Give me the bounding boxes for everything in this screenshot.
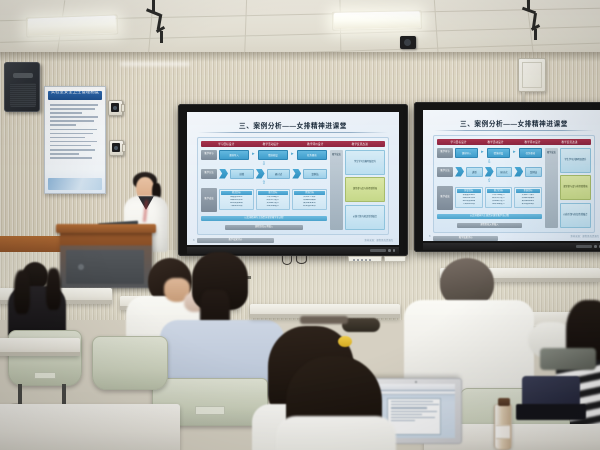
arrow-icon: ▸ (512, 149, 517, 156)
outcome-box-1: 学生学习兴趣明显提升 (345, 150, 385, 175)
menu-dot-icon[interactable] (393, 249, 396, 252)
down-arrow-icon: ⇩ (201, 162, 327, 166)
laptop-app-toolbar (377, 384, 455, 391)
wall-jack-plate-2 (384, 256, 406, 262)
row1-node-1: 课前导入 (455, 148, 478, 158)
laptop-user-torso (276, 416, 396, 450)
slide-diagram: 学习目标设计 教学活动设计 教学评价设计 教学反思改进 教学环节 课前导入 ▸ … (433, 135, 595, 233)
diagram-right-column: 教学成效 学生学习兴趣明显提升 课堂参与度与获得感增强 价值引领与知识传授融合 (330, 150, 385, 231)
chevron-icon (455, 167, 464, 177)
row1-node-2: 情境创设 (258, 150, 288, 160)
diagram-body: 教学环节 课前导入 ▸ 情境创设 ▸ 任务驱动 ⇩ 教学方法 (201, 150, 385, 231)
row1-label: 教学环节 (437, 148, 453, 158)
row2-node-2: 研讨式 (267, 169, 291, 179)
slide-page-number: 8 (429, 235, 430, 238)
chevron-icon (292, 169, 301, 179)
diagram-header-bar: 学习目标设计 教学活动设计 教学评价设计 教学反思改进 (201, 141, 385, 147)
col2-header: 能力目标 (258, 191, 289, 195)
row2-node-2: 研讨式 (496, 167, 513, 177)
left-display[interactable]: 三、案例分析——女排精神进课堂 学习目标设计 教学活动设计 教学评价设计 教学反… (178, 104, 408, 256)
col1-item-4: 了解应用场景 (457, 203, 481, 206)
slide-bottom-bar: 教学效果评价 (433, 236, 498, 241)
header-seg-1: 学习目标设计 (218, 142, 234, 146)
col3-header: 素质目标 (516, 189, 540, 193)
classroom-scene: 实验室安全卫生管理制度 (0, 0, 600, 450)
row1-node-1: 课前导入 (219, 150, 249, 160)
col3-item-4: 职业道德素养 (516, 203, 540, 206)
col1-header: 知识目标 (221, 191, 252, 195)
chair-mid-left[interactable] (92, 336, 168, 390)
chair-leg (62, 384, 66, 406)
objective-columns: 知识目标 掌握基本概念 理解理论体系 熟悉发展脉络 了解应用场景 能力目标 分析… (219, 189, 327, 209)
col3-header: 素质目标 (294, 191, 325, 195)
slide-footnote: 素材来源：课程思政资源库 (570, 235, 599, 238)
wall-light-reflection (120, 62, 190, 66)
objective-column-1: 知识目标 掌握基本概念 理解理论体系 熟悉发展脉络 了解应用场景 (455, 187, 483, 207)
diagram-row-2: 教学方法 讲授 研讨式 案例法 (201, 169, 327, 179)
laptop-camera-icon (415, 381, 417, 383)
outcome-column-label: 教学成效 (545, 148, 558, 229)
diagram-row-3: 教学成效 知识目标 掌握基本概念 理解理论体系 熟悉发展脉络 了解应用场景 (437, 186, 542, 210)
wall-camera-lower-icon (109, 140, 124, 156)
header-seg-3: 教学评价设计 (524, 140, 540, 144)
diagram-right-column: 教学成效 学生学习兴趣明显提升 课堂参与度与获得感增强 价值引领与知识传授融合 (545, 148, 591, 229)
row1-node-3: 任务驱动 (297, 150, 327, 160)
row2-node-3: 案例法 (525, 167, 542, 177)
diagram-grey-bar: 课程思政元素融入 (225, 225, 303, 230)
audience-hair-a1 (14, 270, 30, 314)
diagram-row-1: 教学环节 课前导入 ▸ 情境创设 ▸ 任务驱动 (437, 148, 542, 158)
panel-light-left (28, 15, 117, 35)
slide-title-rule (198, 132, 388, 133)
objective-columns: 知识目标 掌握基本概念 理解理论体系 熟悉发展脉络 了解应用场景 能力目标 分析… (455, 187, 542, 207)
speaker-grill-icon (10, 83, 36, 107)
dark-strap (516, 404, 586, 420)
row1-node-3: 任务驱动 (519, 148, 542, 158)
hanging-cable-1 (282, 256, 292, 265)
header-seg-3: 教学评价设计 (307, 142, 323, 146)
poster-footer-band (48, 178, 102, 190)
slide-title: 三、案例分析——女排精神进课堂 (192, 120, 394, 130)
objective-column-2: 能力目标 分析问题能力 团队协作能力 实践操作能力 创新思维能力 (256, 189, 291, 209)
control-strip-icon (370, 249, 386, 252)
outcome-boxes: 学生学习兴趣明显提升 课堂参与度与获得感增强 价值引领与知识传授融合 (560, 148, 591, 229)
diagram-left-column: 教学环节 课前导入 ▸ 情境创设 ▸ 任务驱动 ⇩ 教学方法 (201, 150, 327, 231)
podium-knob (78, 264, 84, 270)
objective-column-2: 能力目标 分析问题能力 团队协作能力 实践操作能力 创新思维能力 (485, 187, 513, 207)
wall-speaker (4, 62, 40, 112)
row3-label: 教学成效 (201, 188, 217, 212)
wooden-podium (60, 228, 152, 288)
objective-column-3: 素质目标 爱国主义情怀 顽强拼搏精神 集体荣誉意识 职业道德素养 (514, 187, 542, 207)
hanging-cable-2 (296, 256, 307, 264)
poster-header-title: 实验室安全卫生管理制度 (45, 88, 105, 96)
chevron-icon (485, 167, 494, 177)
wall-vent-panel (518, 58, 546, 92)
col2-item-4: 创新思维能力 (487, 203, 511, 206)
power-dot-icon[interactable] (388, 249, 391, 252)
diagram-full-bar: 以女排精神为主线贯穿课堂教学全过程 (201, 216, 327, 221)
diagram-header-bar: 学习目标设计 教学活动设计 教学评价设计 教学反思改进 (437, 139, 591, 145)
up-arrow-icon: ⇧ (201, 181, 327, 185)
ceiling-camera-icon (400, 36, 416, 49)
right-display[interactable]: 三、案例分析——女排精神进课堂 学习目标设计 教学活动设计 教学评价设计 教学反… (414, 102, 600, 252)
outcome-boxes: 学生学习兴趣明显提升 课堂参与度与获得感增强 价值引领与知识传授融合 (345, 150, 385, 231)
header-seg-2: 教学活动设计 (263, 142, 279, 146)
camera-lens-icon (112, 143, 120, 152)
desk-front-left-upper (0, 338, 80, 356)
wall-poster: 实验室安全卫生管理制度 (44, 86, 106, 194)
header-seg-1: 学习目标设计 (450, 140, 466, 144)
power-dot-icon[interactable] (594, 245, 597, 248)
diagram-row-3: 教学成效 知识目标 掌握基本概念 理解理论体系 熟悉发展脉络 了解应用场景 (201, 188, 327, 212)
wall-jack-plate (348, 256, 382, 262)
wall-shadow (0, 52, 600, 62)
audience-hair-a1b (46, 268, 61, 310)
col3-item-4: 职业道德素养 (294, 205, 325, 208)
col2-item-4: 创新思维能力 (258, 205, 289, 208)
bottle-cap (498, 398, 510, 406)
row1-node-2: 情境创设 (487, 148, 510, 158)
chevron-icon (219, 169, 228, 179)
diagram-full-bar: 以女排精神为主线贯穿课堂教学全过程 (437, 214, 542, 219)
drink-bottle[interactable] (494, 404, 512, 450)
row2-label: 教学方法 (437, 167, 453, 177)
row1-label: 教学环节 (201, 150, 217, 160)
control-strip-icon (576, 245, 592, 248)
slide-diagram: 学习目标设计 教学活动设计 教学评价设计 教学反思改进 教学环节 课前导入 ▸ … (197, 137, 389, 235)
laptop-app-ribbon (377, 391, 455, 395)
outcome-box-2: 课堂参与度与获得感增强 (345, 177, 385, 202)
col2-header: 能力目标 (487, 189, 511, 193)
podium-top-surface (56, 224, 156, 233)
slide-bottom-bar: 教学效果评价 (197, 238, 274, 243)
outcome-box-3: 价值引领与知识传授融合 (560, 203, 591, 228)
arrow-icon: ▸ (251, 151, 256, 158)
arrow-icon: ▸ (480, 149, 485, 156)
row2-node-1: 讲授 (230, 169, 254, 179)
row2-label: 教学方法 (201, 169, 217, 179)
right-display-controls[interactable] (423, 243, 600, 250)
slide-title: 三、案例分析——女排精神进课堂 (428, 118, 600, 128)
row2-node-1: 讲授 (466, 167, 483, 177)
grey-item (540, 348, 596, 370)
wall-camera-upper-icon (108, 100, 123, 116)
arrow-icon: ▸ (290, 151, 295, 158)
diagram-row-1: 教学环节 课前导入 ▸ 情境创设 ▸ 任务驱动 (201, 150, 327, 160)
chevron-icon (514, 167, 523, 177)
diagram-left-column: 教学环节 课前导入 ▸ 情境创设 ▸ 任务驱动 ⇩ 教学方法 (437, 148, 542, 229)
poster-body-text (50, 104, 100, 177)
row2-node-3: 案例法 (303, 169, 327, 179)
row3-label: 教学成效 (437, 186, 453, 210)
objective-column-1: 知识目标 掌握基本概念 理解理论体系 熟悉发展脉络 了解应用场景 (219, 189, 254, 209)
col1-header: 知识目标 (457, 189, 481, 193)
down-arrow-icon: ⇩ (437, 160, 542, 164)
camera-lens-icon (111, 103, 119, 112)
header-seg-2: 教学活动设计 (487, 140, 503, 144)
up-arrow-icon: ⇧ (437, 179, 542, 183)
outcome-box-1: 学生学习兴趣明显提升 (560, 148, 591, 173)
right-slide: 三、案例分析——女排精神进课堂 学习目标设计 教学活动设计 教学评价设计 教学反… (423, 110, 600, 241)
diagram-grey-bar: 课程思政元素融入 (457, 223, 522, 228)
header-seg-4: 教学反思改进 (352, 142, 368, 146)
header-seg-4: 教学反思改进 (561, 140, 577, 144)
objective-column-3: 素质目标 爱国主义情怀 顽强拼搏精神 集体荣誉意识 职业道德素养 (292, 189, 327, 209)
bottle-label (496, 425, 510, 439)
outcome-box-2: 课堂参与度与获得感增强 (560, 175, 591, 200)
slide-page-number: 8 (193, 239, 194, 242)
slide-title-rule (434, 130, 594, 131)
slide-footnote: 素材来源：课程思政资源库 (364, 239, 393, 242)
hair-clip (338, 336, 352, 347)
desk-front-left (0, 404, 180, 450)
chair-label (34, 372, 56, 379)
outcome-box-3: 价值引领与知识传授融合 (345, 205, 385, 230)
diagram-row-2: 教学方法 讲授 研讨式 案例法 (437, 167, 542, 177)
chevron-icon (256, 169, 265, 179)
desk-cable (300, 316, 348, 324)
chair-label (195, 406, 225, 415)
right-display-screen: 三、案例分析——女排精神进课堂 学习目标设计 教学活动设计 教学评价设计 教学反… (423, 110, 600, 241)
left-display-screen: 三、案例分析——女排精神进课堂 学习目标设计 教学活动设计 教学评价设计 教学反… (187, 112, 399, 245)
outcome-column-label: 教学成效 (330, 150, 343, 231)
left-slide: 三、案例分析——女排精神进课堂 学习目标设计 教学活动设计 教学评价设计 教学反… (187, 112, 399, 245)
diagram-body: 教学环节 课前导入 ▸ 情境创设 ▸ 任务驱动 ⇩ 教学方法 (437, 148, 591, 229)
panel-light-right (334, 11, 420, 28)
col1-item-4: 了解应用场景 (221, 205, 252, 208)
